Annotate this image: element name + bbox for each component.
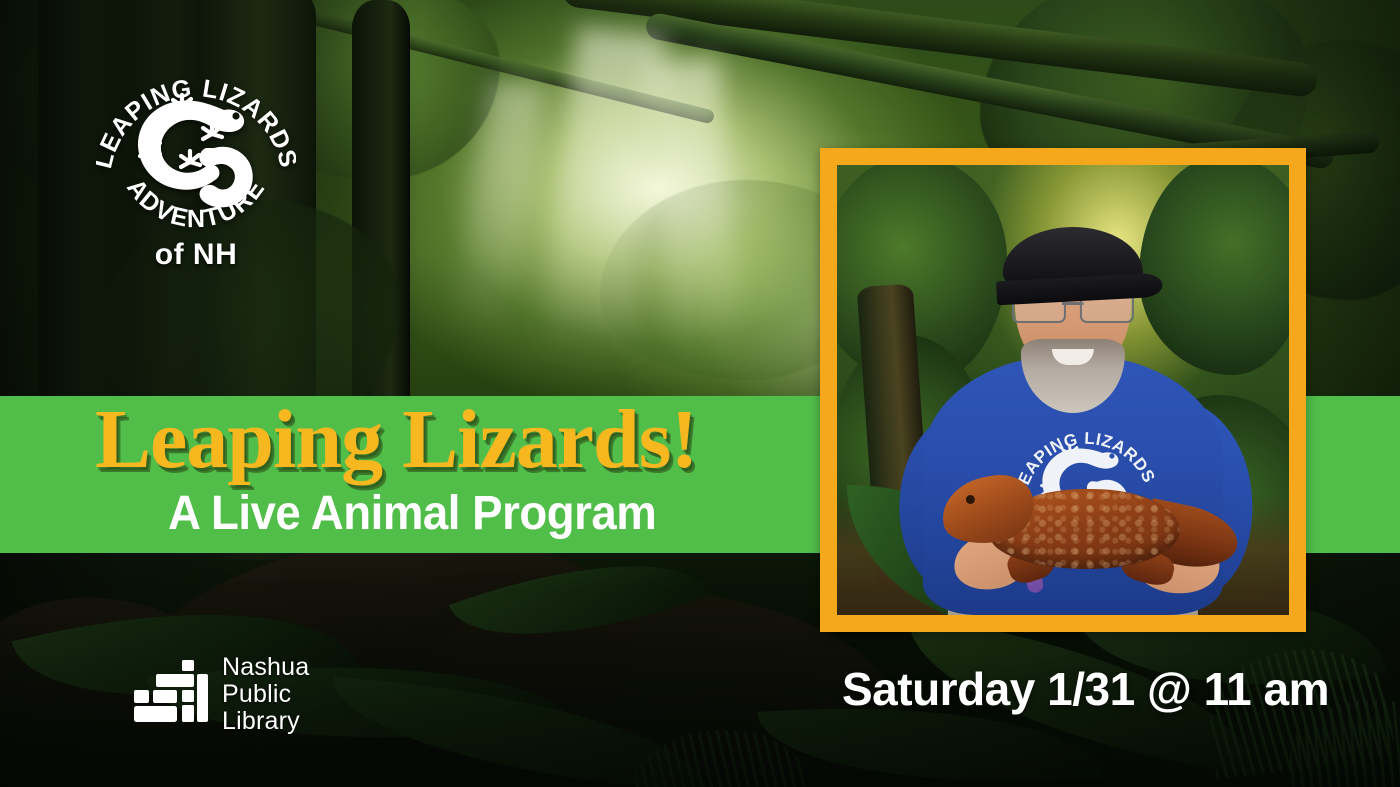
presenter-figure: LEAPING LIZARDS ADVENTURE xyxy=(908,215,1238,615)
library-name: Nashua Public Library xyxy=(222,654,309,735)
presenter-photo-frame: LEAPING LIZARDS ADVENTURE xyxy=(820,148,1306,632)
library-name-line-3: Library xyxy=(222,707,300,735)
leaping-lizards-logo: LEAPING LIZARDS ADVENTURE xyxy=(96,52,296,252)
page-subtitle: A Live Animal Program xyxy=(168,490,656,538)
stacked-books-icon xyxy=(134,658,210,730)
logo-subtitle: of NH xyxy=(96,238,296,272)
presenter-photo: LEAPING LIZARDS ADVENTURE xyxy=(837,165,1289,615)
library-name-line-1: Nashua xyxy=(222,653,309,681)
lizard xyxy=(936,447,1236,607)
event-poster: LEAPING LIZARDS ADVENTURE xyxy=(0,0,1400,787)
event-datetime: Saturday 1/31 @ 11 am xyxy=(842,662,1329,716)
lizard-eye xyxy=(966,495,975,504)
nashua-public-library-logo: Nashua Public Library xyxy=(134,648,374,740)
page-title: Leaping Lizards! xyxy=(95,398,697,482)
library-name-line-2: Public xyxy=(222,680,291,708)
